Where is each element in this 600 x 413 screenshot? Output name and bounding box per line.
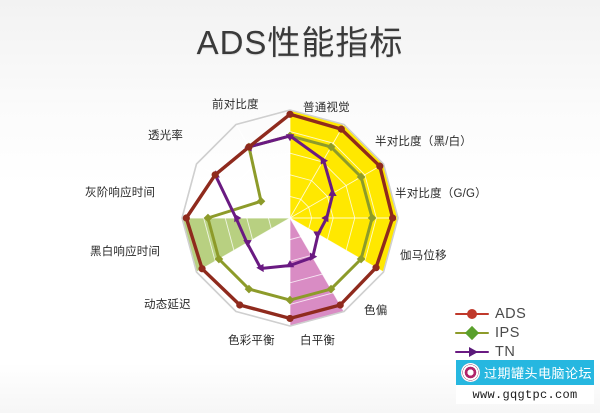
legend-item-ips[interactable]: IPS <box>455 323 585 342</box>
radar-grid <box>182 110 398 326</box>
legend-label-ips: IPS <box>495 325 520 341</box>
legend-label-ads: ADS <box>495 306 526 322</box>
axis-label-1: 普通视觉 <box>303 99 350 115</box>
watermark: 过期罐头电脑论坛 www.gqgtpc.com <box>456 360 594 404</box>
axis-label-5: 色偏 <box>364 302 387 318</box>
watermark-band: 过期罐头电脑论坛 <box>456 360 594 385</box>
axis-label-4: 伽马位移 <box>400 247 447 263</box>
axis-label-12: 前对比度 <box>212 96 259 112</box>
chart-legend: ADS IPS TN <box>455 304 585 361</box>
target-logo-icon <box>461 363 480 382</box>
axis-label-2: 半对比度（黑/白） <box>375 133 472 149</box>
axis-label-11: 透光率 <box>148 127 183 143</box>
legend-item-tn[interactable]: TN <box>455 342 585 361</box>
legend-item-ads[interactable]: ADS <box>455 304 585 323</box>
watermark-url: www.gqgtpc.com <box>456 385 594 404</box>
axis-label-7: 色彩平衡 <box>228 332 275 348</box>
axis-label-9: 黑白响应时间 <box>90 243 160 259</box>
axis-label-3: 半对比度（G/G） <box>395 185 487 201</box>
chart-stage: ADS性能指标 普通视觉半对比度（黑/白）半对比度（G/G）伽马位移色偏白平衡色… <box>0 0 600 413</box>
legend-line-ips <box>455 332 489 334</box>
axis-label-6: 白平衡 <box>300 332 335 348</box>
legend-label-tn: TN <box>495 344 515 360</box>
legend-line-ads <box>455 313 489 315</box>
legend-line-tn <box>455 351 489 353</box>
axis-label-8: 动态延迟 <box>144 296 191 312</box>
watermark-name: 过期罐头电脑论坛 <box>484 363 592 382</box>
axis-label-10: 灰阶响应时间 <box>85 184 155 200</box>
